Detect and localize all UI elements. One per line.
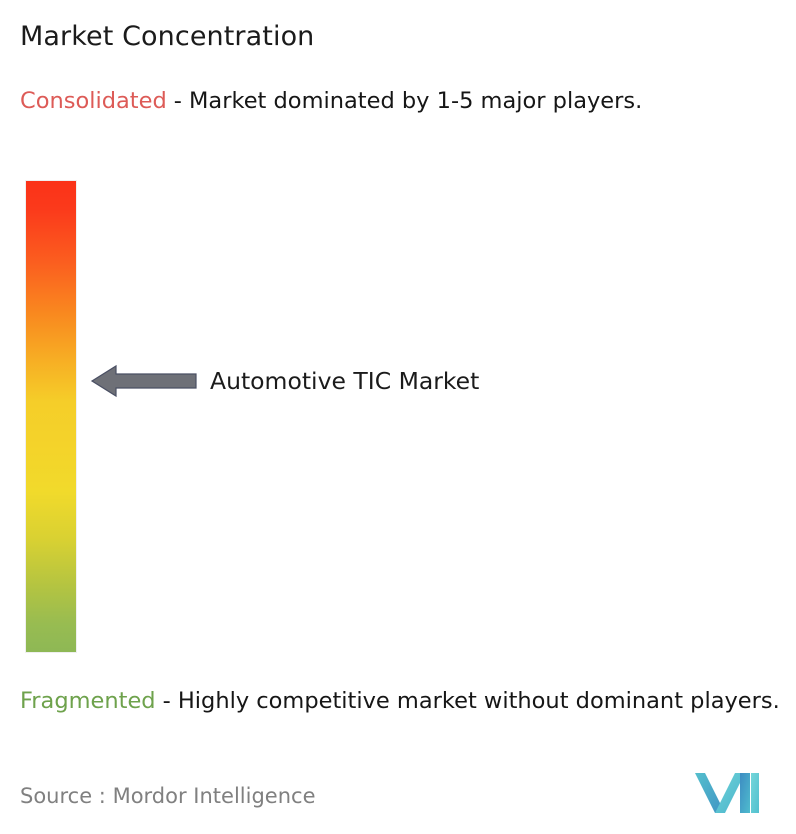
source-attribution: Source : Mordor Intelligence <box>20 782 315 810</box>
source-name: Mordor Intelligence <box>113 784 316 808</box>
legend-consolidated-description: - Market dominated by 1-5 major players. <box>174 88 643 114</box>
legend-consolidated-keyword: Consolidated <box>20 88 167 114</box>
page-title: Market Concentration <box>20 20 314 54</box>
mordor-intelligence-logo <box>694 769 760 817</box>
concentration-scale-bar <box>26 181 76 652</box>
source-label: Source : <box>20 784 106 808</box>
brand-mark-icon <box>694 769 760 817</box>
legend-fragmented-description: - Highly competitive market without domi… <box>163 688 780 714</box>
marker-label: Automotive TIC Market <box>210 366 479 396</box>
legend-fragmented-keyword: Fragmented <box>20 688 156 714</box>
legend-consolidated: Consolidated- Market dominated by 1-5 ma… <box>20 86 776 116</box>
marker-arrow <box>90 363 198 399</box>
arrow-left-icon <box>90 363 198 399</box>
legend-fragmented: Fragmented- Highly competitive market wi… <box>20 686 788 716</box>
